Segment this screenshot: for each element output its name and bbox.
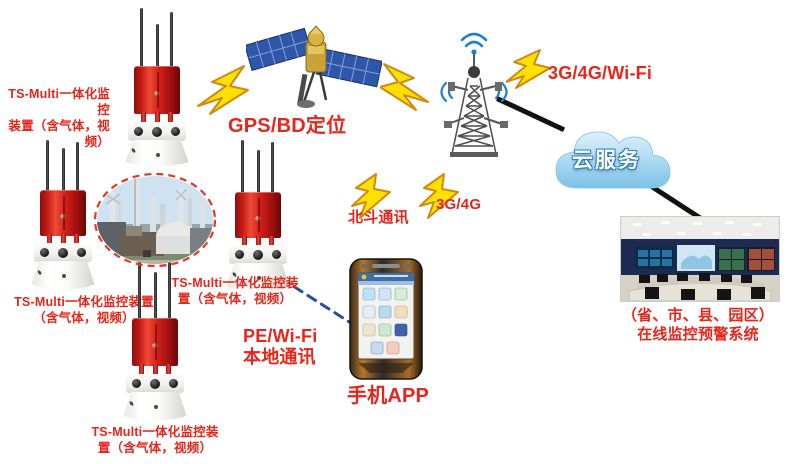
device-indicator xyxy=(152,343,158,349)
sensor-port xyxy=(151,126,163,138)
sensor-port xyxy=(39,247,50,258)
control-room-photo[interactable] xyxy=(620,216,780,302)
antenna-icon xyxy=(156,24,159,72)
label-beidou: 北斗通讯 xyxy=(348,208,409,227)
antenna-icon xyxy=(46,140,49,194)
antenna-icon xyxy=(140,8,143,70)
device-body xyxy=(134,66,180,114)
sensor-port xyxy=(234,249,245,260)
device-indicator xyxy=(60,214,66,220)
antenna-icon xyxy=(257,150,260,196)
label-control-center: （省、市、县、园区） 在线监控预警系统 xyxy=(600,306,796,344)
sensor-dot xyxy=(156,153,160,157)
sensor-dot xyxy=(154,405,158,409)
device-body xyxy=(235,192,281,238)
lightning-bolt-satellite-tower xyxy=(380,62,438,114)
antenna-icon xyxy=(241,140,244,196)
antenna-icon xyxy=(62,148,65,194)
sensor-port xyxy=(131,378,142,389)
label-3g4g: 3G/4G xyxy=(436,195,481,214)
cloud-label: 云服务 xyxy=(572,144,641,174)
label-pe-wifi-local: PE/Wi-Fi 本地通讯 xyxy=(243,326,373,368)
antenna-icon xyxy=(154,272,157,324)
label-3g4g-wifi: 3G/4G/Wi-Fi xyxy=(548,62,652,85)
sensor-head xyxy=(128,122,186,141)
sensor-port xyxy=(133,126,144,137)
sensor-dot xyxy=(62,274,66,278)
sensor-port xyxy=(271,249,282,260)
sensor-port xyxy=(57,247,69,259)
device-body xyxy=(132,318,178,366)
plant-photo-circle[interactable] xyxy=(90,170,220,270)
diagram-canvas: TS-Multi一体化监控 装置（含气体，视频） TS-Multi一体化监控装置… xyxy=(0,0,797,464)
cloud-icon[interactable]: 云服务 xyxy=(548,116,680,200)
sensor-port xyxy=(170,126,181,137)
sensor-port xyxy=(168,378,179,389)
sensor-port xyxy=(252,249,264,261)
satellite-icon[interactable] xyxy=(246,12,382,112)
ts-multi-sensor-device-4[interactable] xyxy=(110,258,200,418)
label-phone-app: 手机APP xyxy=(330,384,446,410)
antenna-icon xyxy=(170,12,173,72)
label-gps-bd: GPS/BD定位 xyxy=(228,114,346,140)
antenna-icon xyxy=(271,142,274,196)
label-sensor-bottom: TS-Multi一体化监控装 置（含气体，视频） xyxy=(70,424,240,456)
sensor-port xyxy=(76,247,87,258)
antenna-icon xyxy=(168,262,171,324)
device-indicator xyxy=(154,91,160,97)
sensor-port xyxy=(149,378,161,390)
antenna-icon xyxy=(76,142,79,194)
sensor-head xyxy=(34,243,92,262)
lightning-bolt-gps xyxy=(188,64,252,118)
sensor-head xyxy=(126,374,184,393)
device-indicator xyxy=(255,216,261,222)
petrochemical-plant-photo xyxy=(90,170,220,270)
device-body xyxy=(40,190,86,236)
wifi-wave-icon xyxy=(462,34,486,55)
sensor-head xyxy=(229,245,287,264)
